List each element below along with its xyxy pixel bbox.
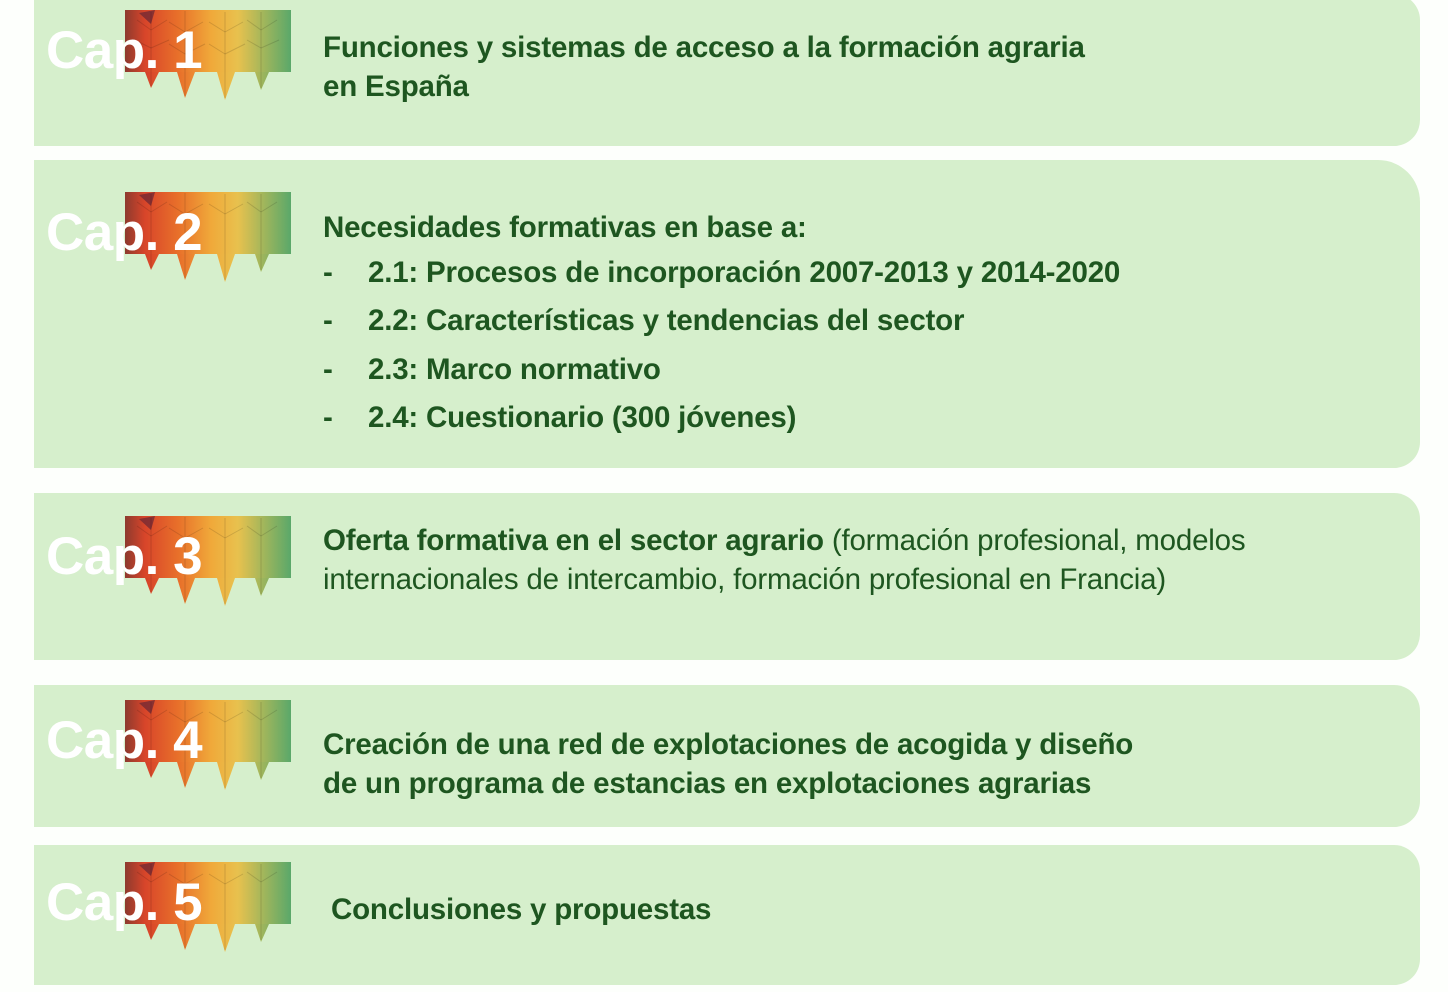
list-item-label: 2.1: Procesos de incorporación 2007-2013… [368,256,1120,289]
chapter-badge-1: Cap. 1 [46,10,306,110]
chapter-title-1: Funciones y sistemas de acceso a la form… [323,28,1085,106]
list-item: - 2.2: Características y tendencias del … [323,301,1120,340]
chapter-badge-label: Cap. 5 [46,876,306,929]
chapter-title-3: Oferta formativa en el sector agrario (f… [323,521,1383,599]
chapter-heading: Necesidades formativas en base a: [323,208,1120,247]
chapter-badge-3: Cap. 3 [46,516,306,616]
chapter-badge-4: Cap. 4 [46,700,306,800]
bullet-marker: - [323,301,333,340]
chapter-badge-label: Cap. 4 [46,714,306,767]
chapter-badge-label: Cap. 1 [46,24,306,77]
list-item-label: 2.2: Características y tendencias del se… [368,304,964,337]
list-item-label: 2.4: Cuestionario (300 jóvenes) [368,401,796,434]
list-item: - 2.4: Cuestionario (300 jóvenes) [323,398,1120,437]
bullet-marker: - [323,398,333,437]
list-item-label: 2.3: Marco normativo [368,353,661,386]
bullet-marker: - [323,350,333,389]
chapter-overview-slide: Cap. 1 Funciones y sistemas de acceso a … [0,0,1448,992]
bullet-marker: - [323,253,333,292]
chapter-title-line: Funciones y sistemas de acceso a la form… [323,28,1085,67]
chapter-badge-5: Cap. 5 [46,862,306,962]
chapter-title-bold: Oferta formativa en el sector agrario [323,524,824,557]
chapter-subitem-list: - 2.1: Procesos de incorporación 2007-20… [323,253,1120,437]
chapter-title-line: de un programa de estancias en explotaci… [323,764,1133,803]
chapter-title-line: en España [323,67,1085,106]
chapter-badge-label: Cap. 2 [46,206,306,259]
chapter-badge-label: Cap. 3 [46,530,306,583]
chapter-title-5: Conclusiones y propuestas [331,890,711,929]
list-item: - 2.1: Procesos de incorporación 2007-20… [323,253,1120,292]
chapter-badge-2: Cap. 2 [46,192,306,292]
chapter-title-line: Creación de una red de explotaciones de … [323,725,1133,764]
list-item: - 2.3: Marco normativo [323,350,1120,389]
chapter-content-2: Necesidades formativas en base a: - 2.1:… [323,208,1120,446]
chapter-title-line: Conclusiones y propuestas [331,890,711,929]
chapter-title-4: Creación de una red de explotaciones de … [323,725,1133,803]
